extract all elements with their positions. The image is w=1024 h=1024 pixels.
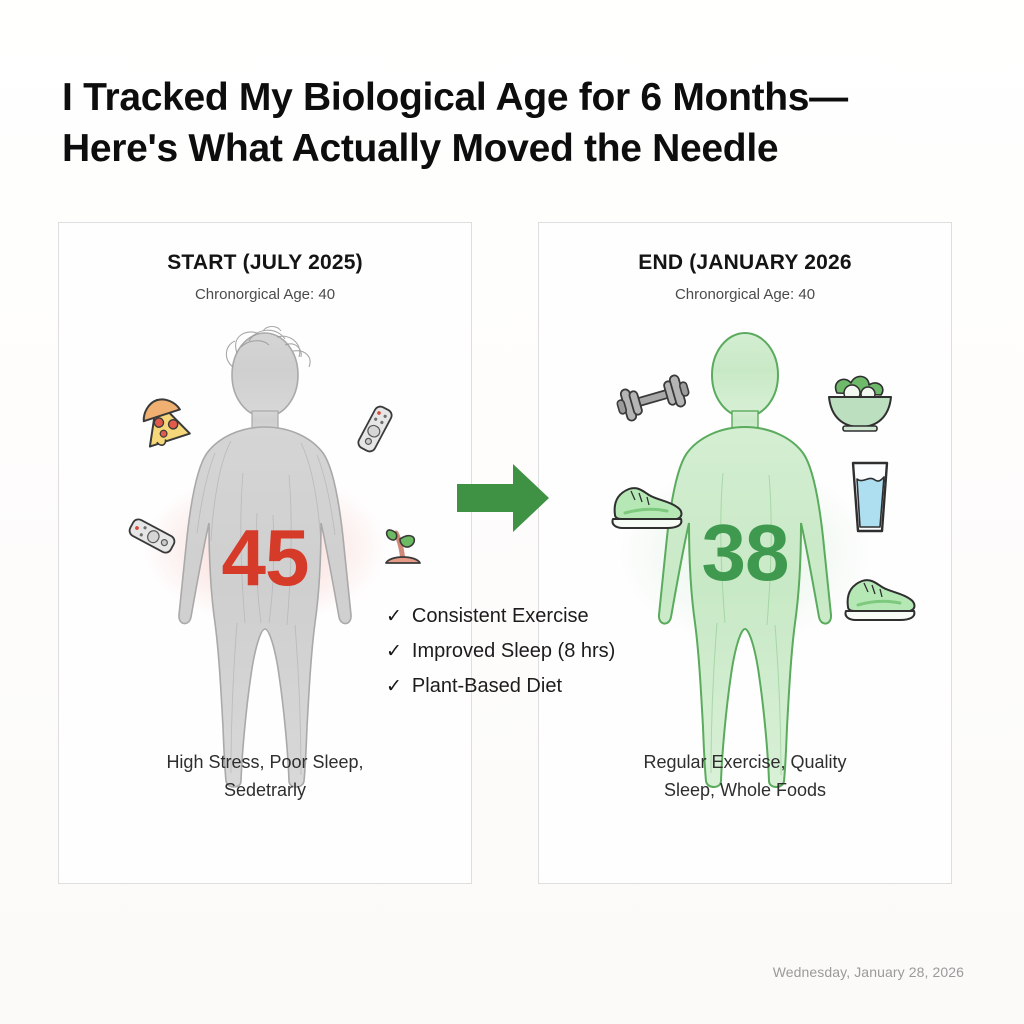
panel-start-caption-line-2: Sedetrarly xyxy=(224,780,306,800)
salad-bowl-icon xyxy=(819,363,901,441)
infographic-canvas: I Tracked My Biological Age for 6 Months… xyxy=(0,0,1024,1024)
check-icon: ✓ xyxy=(386,677,402,696)
checklist-item-label: Consistent Exercise xyxy=(412,606,589,626)
panel-start-title: START (JULY 2025) xyxy=(59,251,471,275)
panel-end-title: END (JANUARY 2026 xyxy=(539,251,951,275)
page-title: I Tracked My Biological Age for 6 Months… xyxy=(62,72,962,175)
check-icon: ✓ xyxy=(386,607,402,626)
running-shoe-icon xyxy=(601,471,693,535)
panel-end-caption-line-1: Regular Exercise, Quality xyxy=(643,752,846,772)
panel-start: START (JULY 2025) Chronorgical Age: 40 xyxy=(58,222,472,884)
checklist-item: ✓ Plant-Based Diet xyxy=(386,676,686,696)
check-icon: ✓ xyxy=(386,642,402,661)
checklist-item-label: Improved Sleep (8 hrs) xyxy=(412,641,615,661)
pizza-slice-icon xyxy=(133,391,195,453)
biological-age-end: 38 xyxy=(702,513,789,593)
panel-end-caption-line-2: Sleep, Whole Foods xyxy=(664,780,826,800)
footer-date: Wednesday, January 28, 2026 xyxy=(773,964,964,980)
transition-arrow-icon xyxy=(455,452,551,544)
tv-remote-icon xyxy=(344,398,406,460)
panel-end-subtitle: Chronorgical Age: 40 xyxy=(539,286,951,303)
dumbbell-icon xyxy=(607,363,699,433)
page-title-line-2: Here's What Actually Moved the Needle xyxy=(62,123,962,174)
panel-end: END (JANUARY 2026 Chronorgical Age: 40 xyxy=(538,222,952,884)
panel-start-caption-line-1: High Stress, Poor Sleep, xyxy=(166,752,363,772)
tv-remote-icon-2 xyxy=(121,505,183,567)
running-shoe-icon-2 xyxy=(834,563,926,627)
panel-start-subtitle: Chronorgical Age: 40 xyxy=(59,286,471,303)
panel-end-caption: Regular Exercise, Quality Sleep, Whole F… xyxy=(573,749,917,805)
seedling-icon xyxy=(372,511,434,573)
biological-age-start: 45 xyxy=(222,518,309,598)
checklist-item: ✓ Consistent Exercise xyxy=(386,606,686,626)
page-title-line-1: I Tracked My Biological Age for 6 Months… xyxy=(62,72,962,123)
panel-start-caption: High Stress, Poor Sleep, Sedetrarly xyxy=(93,749,437,805)
water-glass-icon xyxy=(839,455,901,539)
checklist-item: ✓ Improved Sleep (8 hrs) xyxy=(386,641,686,661)
improvements-checklist: ✓ Consistent Exercise ✓ Improved Sleep (… xyxy=(386,606,686,711)
checklist-item-label: Plant-Based Diet xyxy=(412,676,562,696)
